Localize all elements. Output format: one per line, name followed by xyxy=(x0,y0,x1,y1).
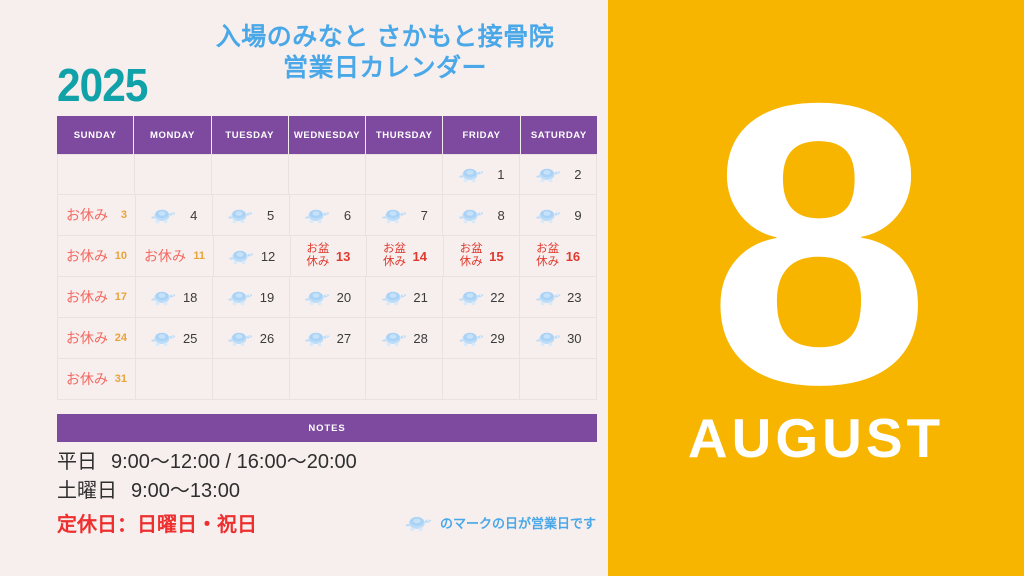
weekday-hours-row: 平日9:00〜12:00 / 16:00〜20:00 xyxy=(57,448,602,477)
turtle-icon xyxy=(304,207,330,224)
day-number: 27 xyxy=(336,331,351,346)
calendar-cell-closed-day[interactable]: お休み3 xyxy=(57,195,136,236)
day-number: 9 xyxy=(567,208,582,223)
turtle-icon xyxy=(304,330,330,347)
calendar-cell-empty xyxy=(290,359,367,400)
closed-label: お休み xyxy=(66,369,108,389)
regular-closed-days: 定休日：日曜日・祝日 xyxy=(57,508,257,537)
calendar-grid: SUNDAY MONDAY TUESDAY WEDNESDAY THURSDAY… xyxy=(57,116,597,400)
closed-label: お休み xyxy=(66,205,108,225)
day-number: 3 xyxy=(114,209,127,221)
calendar-cell-open-day[interactable]: 8 xyxy=(443,195,520,236)
calendar-week-row: お休み10お休み1112お盆休み13お盆休み14お盆休み15お盆休み16 xyxy=(57,236,597,277)
calendar-cell-open-day[interactable]: 12 xyxy=(214,236,291,277)
calendar-cell-empty xyxy=(520,359,597,400)
day-number: 20 xyxy=(336,290,351,305)
day-number: 17 xyxy=(114,291,127,303)
day-number: 2 xyxy=(567,167,582,182)
calendar-cell-closed-day[interactable]: お休み31 xyxy=(57,359,136,400)
dow-saturday: SATURDAY xyxy=(521,116,597,154)
calendar-cell-open-day[interactable]: 22 xyxy=(443,277,520,318)
month-number: 8 xyxy=(708,88,924,400)
turtle-icon xyxy=(227,289,253,306)
calendar-cell-open-day[interactable]: 5 xyxy=(213,195,290,236)
calendar-cell-open-day[interactable]: 30 xyxy=(520,318,597,359)
calendar-cell-empty xyxy=(213,359,290,400)
calendar-cell-open-day[interactable]: 26 xyxy=(213,318,290,359)
month-panel: 8 AUGUST xyxy=(608,0,1024,576)
calendar-page: 2025 入場のみなと さかもと接骨院 営業日カレンダー SUNDAY MOND… xyxy=(0,0,1024,576)
calendar-cell-empty xyxy=(289,154,366,195)
turtle-icon xyxy=(535,330,561,347)
day-number: 11 xyxy=(192,250,205,262)
day-of-week-header: SUNDAY MONDAY TUESDAY WEDNESDAY THURSDAY… xyxy=(57,116,597,154)
day-number: 1 xyxy=(490,167,505,182)
calendar-cell-open-day[interactable]: 23 xyxy=(520,277,597,318)
turtle-icon xyxy=(404,514,432,532)
obon-label: お盆休み xyxy=(383,243,406,269)
calendar-cell-closed-day[interactable]: お休み11 xyxy=(136,236,214,277)
calendar-cell-closed-day[interactable]: お休み17 xyxy=(57,277,136,318)
day-number: 23 xyxy=(567,290,582,305)
day-number: 4 xyxy=(182,208,197,223)
calendar-cell-open-day[interactable]: 25 xyxy=(136,318,213,359)
weekday-label: 平日 xyxy=(57,448,97,477)
calendar-cell-open-day[interactable]: 29 xyxy=(443,318,520,359)
calendar-cell-empty xyxy=(57,154,135,195)
turtle-icon xyxy=(381,207,407,224)
turtle-icon xyxy=(535,207,561,224)
calendar-cell-obon-holiday[interactable]: お盆休み16 xyxy=(520,236,597,277)
calendar-cell-open-day[interactable]: 4 xyxy=(136,195,213,236)
day-number: 29 xyxy=(490,331,505,346)
turtle-icon xyxy=(150,289,176,306)
day-number: 18 xyxy=(182,290,197,305)
turtle-icon xyxy=(458,289,484,306)
calendar-subtitle: 営業日カレンダー xyxy=(170,53,600,84)
turtle-icon xyxy=(458,330,484,347)
calendar-cell-open-day[interactable]: 19 xyxy=(213,277,290,318)
turtle-icon xyxy=(227,207,253,224)
closed-and-legend-row: 定休日：日曜日・祝日 のマ xyxy=(57,508,602,537)
closed-label: お休み xyxy=(66,328,108,348)
day-number: 15 xyxy=(489,249,504,264)
day-number: 28 xyxy=(413,331,428,346)
closed-label: お休み xyxy=(66,287,108,307)
day-number: 10 xyxy=(114,250,127,262)
turtle-icon xyxy=(228,248,254,265)
notes-body: 平日9:00〜12:00 / 16:00〜20:00 土曜日9:00〜13:00… xyxy=(57,448,602,537)
calendar-cell-open-day[interactable]: 2 xyxy=(520,154,597,195)
calendar-week-row: お休み31 xyxy=(57,359,597,400)
legend-text: のマークの日が営業日です xyxy=(440,513,596,532)
day-number: 16 xyxy=(565,249,580,264)
calendar-weeks: 12お休み3456789お休み10お休み1112お盆休み13お盆休み14お盆休み… xyxy=(57,154,597,400)
calendar-cell-obon-holiday[interactable]: お盆休み13 xyxy=(291,236,368,277)
calendar-cell-open-day[interactable]: 9 xyxy=(520,195,597,236)
calendar-cell-empty xyxy=(212,154,289,195)
saturday-label: 土曜日 xyxy=(57,477,117,506)
calendar-cell-open-day[interactable]: 1 xyxy=(443,154,520,195)
calendar-cell-empty xyxy=(443,359,520,400)
dow-thursday: THURSDAY xyxy=(366,116,443,154)
turtle-icon xyxy=(381,330,407,347)
calendar-week-row: 12 xyxy=(57,154,597,195)
obon-label: お盆休み xyxy=(306,243,329,269)
turtle-icon xyxy=(150,207,176,224)
day-number: 24 xyxy=(114,332,127,344)
calendar-week-row: お休み24252627282930 xyxy=(57,318,597,359)
calendar-cell-empty xyxy=(366,154,443,195)
calendar-cell-open-day[interactable]: 20 xyxy=(290,277,367,318)
clinic-title: 入場のみなと さかもと接骨院 営業日カレンダー xyxy=(170,22,600,84)
calendar-week-row: お休み17181920212223 xyxy=(57,277,597,318)
turtle-icon xyxy=(150,330,176,347)
closed-label: お休み xyxy=(144,246,186,266)
turtle-icon xyxy=(381,289,407,306)
calendar-cell-open-day[interactable]: 28 xyxy=(366,318,443,359)
day-number: 25 xyxy=(182,331,197,346)
closed-label: お休み xyxy=(66,246,108,266)
day-number: 5 xyxy=(259,208,274,223)
calendar-cell-empty xyxy=(366,359,443,400)
calendar-cell-closed-day[interactable]: お休み24 xyxy=(57,318,136,359)
calendar-header: 2025 入場のみなと さかもと接骨院 営業日カレンダー xyxy=(0,22,608,108)
year-label: 2025 xyxy=(57,62,147,108)
obon-label: お盆休み xyxy=(460,243,483,269)
calendar-cell-empty xyxy=(136,359,213,400)
day-number: 19 xyxy=(259,290,274,305)
calendar-left-panel: 2025 入場のみなと さかもと接骨院 営業日カレンダー SUNDAY MOND… xyxy=(0,0,608,576)
turtle-icon xyxy=(458,166,484,183)
day-number: 13 xyxy=(335,249,350,264)
turtle-icon xyxy=(458,207,484,224)
turtle-icon xyxy=(535,166,561,183)
calendar-cell-obon-holiday[interactable]: お盆休み15 xyxy=(444,236,521,277)
calendar-cell-open-day[interactable]: 27 xyxy=(290,318,367,359)
clinic-name: 入場のみなと さかもと接骨院 xyxy=(170,22,600,53)
dow-tuesday: TUESDAY xyxy=(212,116,289,154)
calendar-cell-open-day[interactable]: 21 xyxy=(366,277,443,318)
day-number: 7 xyxy=(413,208,428,223)
turtle-icon xyxy=(227,330,253,347)
obon-label: お盆休み xyxy=(536,243,559,269)
calendar-cell-closed-day[interactable]: お休み10 xyxy=(57,236,136,277)
calendar-cell-open-day[interactable]: 18 xyxy=(136,277,213,318)
month-name: AUGUST xyxy=(688,406,944,470)
saturday-hours-value: 9:00〜13:00 xyxy=(117,477,240,506)
day-number: 14 xyxy=(412,249,427,264)
legend: のマークの日が営業日です xyxy=(404,513,602,532)
calendar-week-row: お休み3456789 xyxy=(57,195,597,236)
weekday-hours-value: 9:00〜12:00 / 16:00〜20:00 xyxy=(97,448,357,477)
dow-friday: FRIDAY xyxy=(443,116,520,154)
turtle-icon xyxy=(304,289,330,306)
day-number: 21 xyxy=(413,290,428,305)
turtle-icon xyxy=(535,289,561,306)
day-number: 6 xyxy=(336,208,351,223)
calendar-cell-empty xyxy=(135,154,212,195)
dow-monday: MONDAY xyxy=(134,116,211,154)
calendar-cell-open-day[interactable]: 6 xyxy=(290,195,367,236)
calendar-cell-open-day[interactable]: 7 xyxy=(366,195,443,236)
day-number: 8 xyxy=(490,208,505,223)
day-number: 31 xyxy=(114,373,127,385)
calendar-cell-obon-holiday[interactable]: お盆休み14 xyxy=(367,236,444,277)
dow-sunday: SUNDAY xyxy=(57,116,134,154)
day-number: 30 xyxy=(567,331,582,346)
notes-bar: NOTES xyxy=(57,414,597,442)
dow-wednesday: WEDNESDAY xyxy=(289,116,366,154)
day-number: 12 xyxy=(260,249,275,264)
day-number: 26 xyxy=(259,331,274,346)
saturday-hours-row: 土曜日9:00〜13:00 xyxy=(57,477,602,506)
day-number: 22 xyxy=(490,290,505,305)
